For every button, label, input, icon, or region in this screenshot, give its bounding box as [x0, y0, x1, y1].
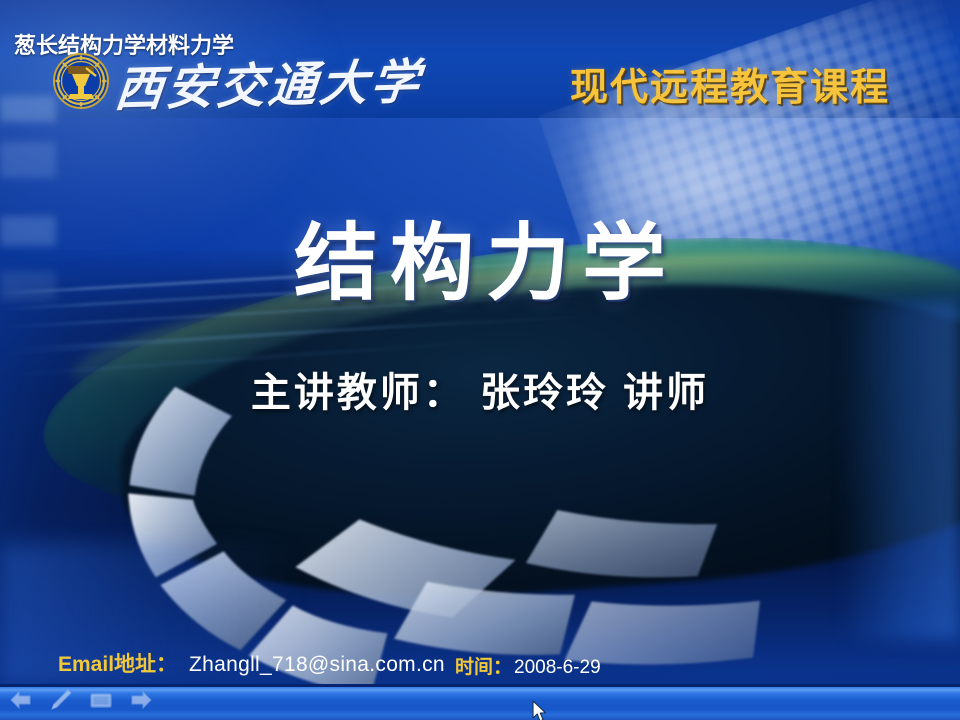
- university-logo: 西安交通大学: [52, 50, 432, 112]
- program-title: 现代远程教育课程: [570, 56, 890, 111]
- xjtu-emblem-icon: [52, 52, 110, 110]
- email-label: Email地址：: [58, 653, 177, 676]
- right-edge-glow: [840, 300, 960, 640]
- screen-icon[interactable]: [88, 688, 114, 712]
- arrow-right-icon[interactable]: [128, 688, 154, 712]
- instructor-line: 主讲教师： 张玲玲 讲师: [0, 360, 960, 418]
- slideshow-controls: [8, 688, 154, 712]
- arrow-left-icon[interactable]: [8, 688, 34, 712]
- presentation-slide: 葱长结构力学材料力学: [0, 0, 960, 720]
- date-line: 时间：2008-6-29: [455, 652, 601, 679]
- pen-icon[interactable]: [48, 688, 74, 712]
- university-name-calligraphy: 西安交通大学: [112, 42, 426, 120]
- date-label: 时间：: [455, 657, 512, 678]
- date-value: 2008-6-29: [514, 657, 601, 678]
- email-line: Email地址：Zhangll_718@sina.com.cn: [58, 648, 445, 678]
- slideshow-control-bar[interactable]: [0, 684, 960, 720]
- slide-main-title: 结构力学: [0, 196, 960, 317]
- email-value: Zhangll_718@sina.com.cn: [189, 653, 445, 676]
